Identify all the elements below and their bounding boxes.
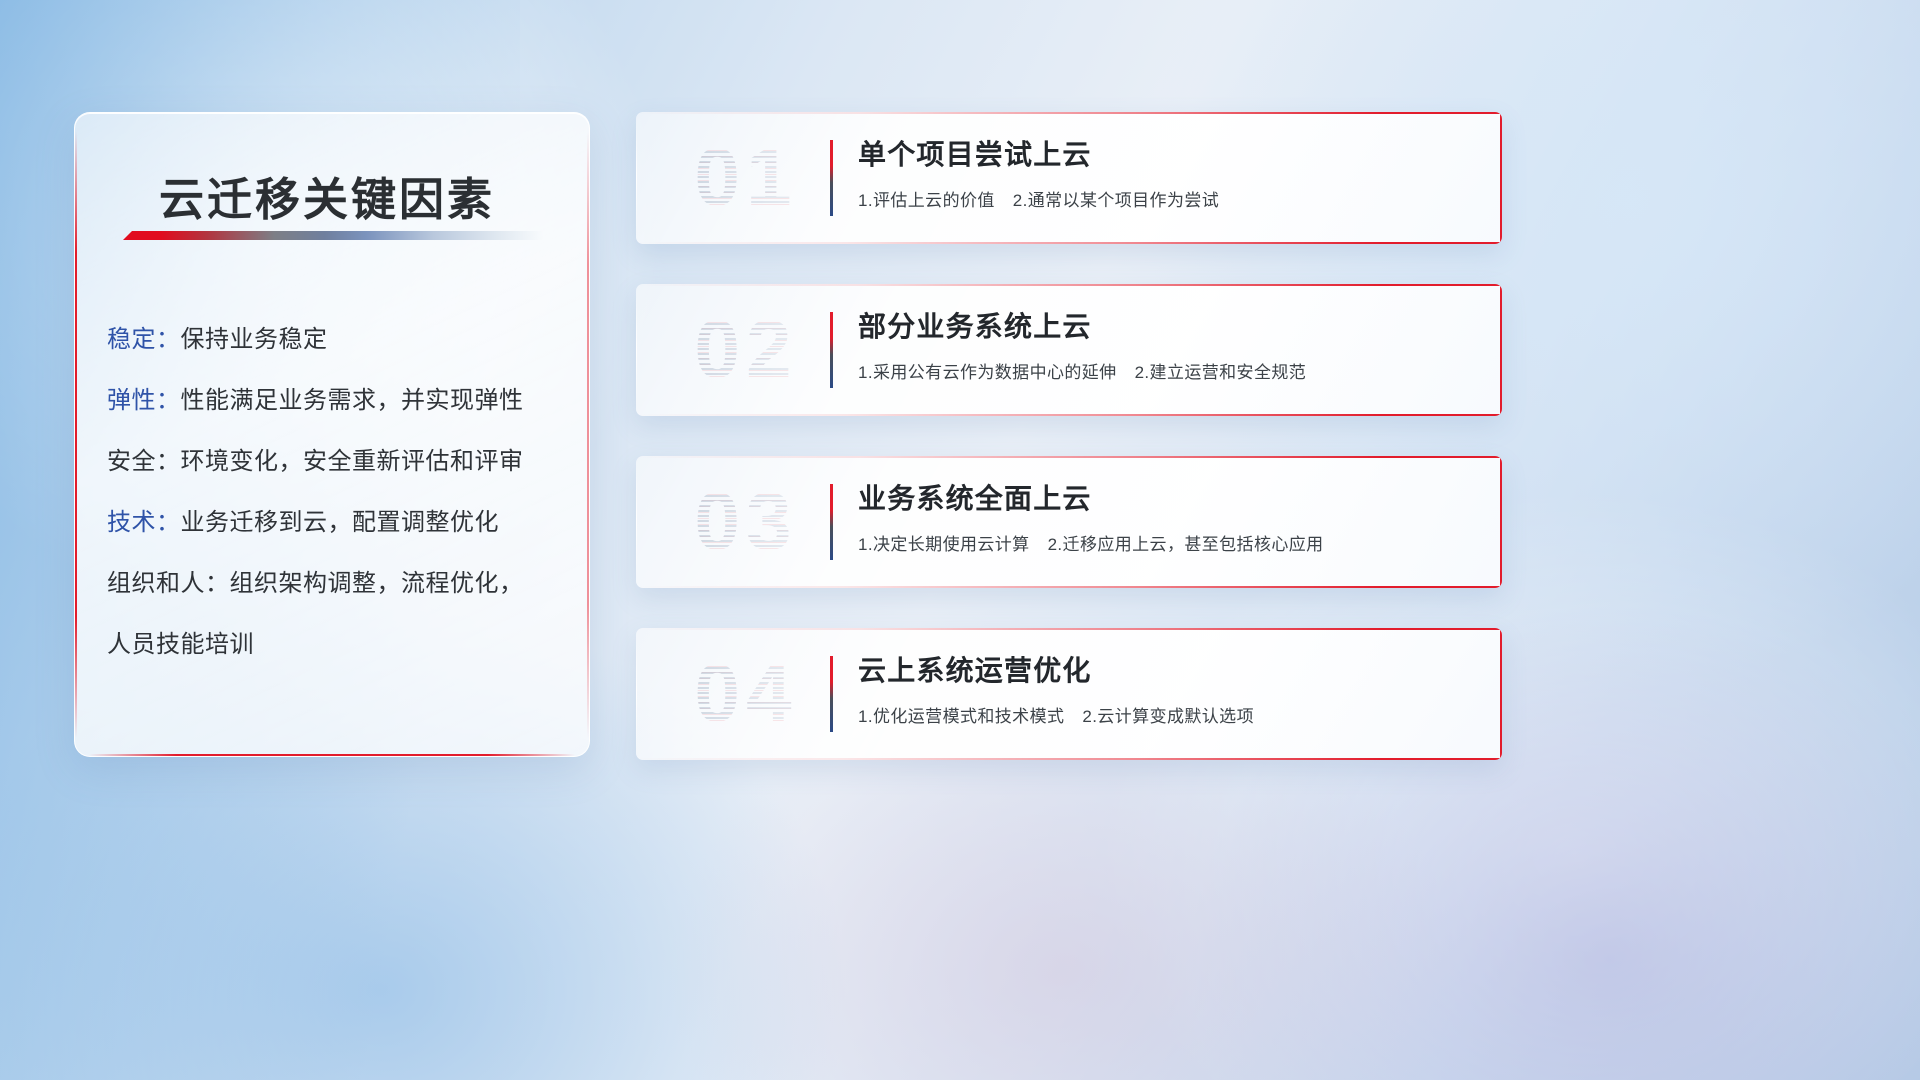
stage-number: 03 (660, 470, 832, 574)
list-item-label: 安全： (107, 448, 181, 475)
card-top-accent (636, 456, 1502, 458)
list-item-text: 环境变化，安全重新评估和评审 (181, 448, 524, 475)
stage-number: 02 (660, 298, 832, 402)
stage-number: 04 (660, 642, 832, 746)
card-bottom-accent (636, 586, 1502, 588)
stage-card-list: 01 01 单个项目尝试上云 1.评估上云的价值2.通常以某个项目作为尝试 02… (636, 112, 1502, 800)
stage-divider-bar (830, 140, 833, 216)
stage-title: 云上系统运营优化 (858, 650, 1472, 692)
stage-title: 业务系统全面上云 (858, 478, 1472, 520)
list-item-continued: 人员技能培训 (107, 614, 565, 675)
stage-text-block: 云上系统运营优化 1.优化运营模式和技术模式2.云计算变成默认选项 (858, 650, 1472, 727)
key-factors-card: 云迁移关键因素 稳定：保持业务稳定 弹性：性能满足业务需求，并实现弹性 安全：环… (74, 112, 590, 757)
stage-number: 01 (660, 126, 832, 230)
list-item-label: 组织和人： (107, 570, 230, 597)
slide-content: 云迁移关键因素 稳定：保持业务稳定 弹性：性能满足业务需求，并实现弹性 安全：环… (0, 0, 1920, 1080)
stage-point: 1.优化运营模式和技术模式 (858, 707, 1064, 726)
list-item-text: 组织架构调整，流程优化， (230, 570, 524, 597)
stage-description: 1.采用公有云作为数据中心的延伸2.建立运营和安全规范 (858, 358, 1472, 383)
list-item: 稳定：保持业务稳定 (107, 309, 565, 370)
page-title: 云迁移关键因素 (159, 163, 495, 228)
stage-title: 单个项目尝试上云 (858, 134, 1472, 176)
stage-divider-bar (830, 312, 833, 388)
list-item: 弹性：性能满足业务需求，并实现弹性 (107, 370, 565, 431)
stage-point: 1.采用公有云作为数据中心的延伸 (858, 363, 1117, 382)
list-item: 组织和人：组织架构调整，流程优化， (107, 553, 565, 614)
card-right-accent (1500, 284, 1502, 416)
stage-title: 部分业务系统上云 (858, 306, 1472, 348)
card-top-accent (636, 284, 1502, 286)
list-item: 安全：环境变化，安全重新评估和评审 (107, 431, 565, 492)
list-item-text: 保持业务稳定 (181, 326, 328, 353)
stage-card[interactable]: 04 04 云上系统运营优化 1.优化运营模式和技术模式2.云计算变成默认选项 (636, 628, 1502, 760)
list-item: 技术：业务迁移到云，配置调整优化 (107, 492, 565, 553)
card-left-highlight (636, 294, 637, 406)
list-item-label: 稳定： (107, 326, 181, 353)
stage-card[interactable]: 02 02 部分业务系统上云 1.采用公有云作为数据中心的延伸2.建立运营和安全… (636, 284, 1502, 416)
card-left-highlight (636, 122, 637, 234)
stage-point: 2.迁移应用上云，甚至包括核心应用 (1048, 535, 1324, 554)
list-item-text: 业务迁移到云，配置调整优化 (181, 509, 500, 536)
stage-card[interactable]: 01 01 单个项目尝试上云 1.评估上云的价值2.通常以某个项目作为尝试 (636, 112, 1502, 244)
stage-text-block: 部分业务系统上云 1.采用公有云作为数据中心的延伸2.建立运营和安全规范 (858, 306, 1472, 383)
stage-text-block: 单个项目尝试上云 1.评估上云的价值2.通常以某个项目作为尝试 (858, 134, 1472, 211)
card-bottom-accent (636, 758, 1502, 760)
card-bottom-accent (636, 242, 1502, 244)
stage-description: 1.优化运营模式和技术模式2.云计算变成默认选项 (858, 702, 1472, 727)
card-left-highlight (636, 638, 637, 750)
card-right-accent (1500, 456, 1502, 588)
stage-divider-bar (830, 484, 833, 560)
stage-description: 1.评估上云的价值2.通常以某个项目作为尝试 (858, 186, 1472, 211)
list-item-text: 性能满足业务需求，并实现弹性 (181, 387, 524, 414)
list-item-label: 技术： (107, 509, 181, 536)
stage-point: 2.云计算变成默认选项 (1082, 707, 1254, 726)
stage-card[interactable]: 03 03 业务系统全面上云 1.决定长期使用云计算2.迁移应用上云，甚至包括核… (636, 456, 1502, 588)
card-top-accent (636, 112, 1502, 114)
title-underline-accent (123, 231, 543, 240)
stage-point: 2.通常以某个项目作为尝试 (1013, 191, 1219, 210)
stage-text-block: 业务系统全面上云 1.决定长期使用云计算2.迁移应用上云，甚至包括核心应用 (858, 478, 1472, 555)
stage-point: 2.建立运营和安全规范 (1135, 363, 1307, 382)
list-item-label: 弹性： (107, 387, 181, 414)
card-right-accent (1500, 112, 1502, 244)
key-factors-list: 稳定：保持业务稳定 弹性：性能满足业务需求，并实现弹性 安全：环境变化，安全重新… (107, 309, 565, 675)
list-item-text: 人员技能培训 (107, 631, 254, 658)
card-left-highlight (636, 466, 637, 578)
card-right-accent (1500, 628, 1502, 760)
card-bottom-accent (89, 754, 575, 756)
stage-point: 1.评估上云的价值 (858, 191, 995, 210)
stage-divider-bar (830, 656, 833, 732)
card-top-accent (636, 628, 1502, 630)
card-bottom-accent (636, 414, 1502, 416)
stage-point: 1.决定长期使用云计算 (858, 535, 1030, 554)
stage-description: 1.决定长期使用云计算2.迁移应用上云，甚至包括核心应用 (858, 530, 1472, 555)
